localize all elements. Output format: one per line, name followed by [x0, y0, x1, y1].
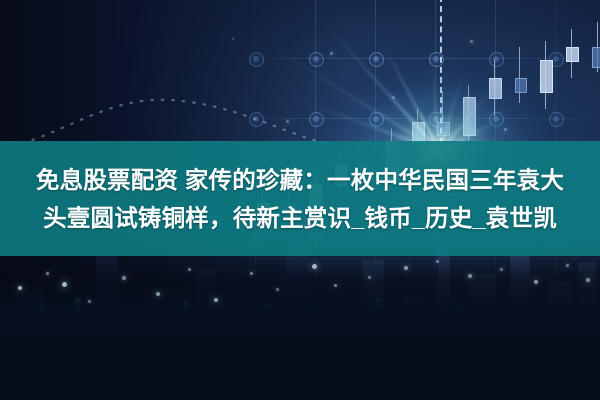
- light-speck: [586, 278, 590, 282]
- light-speck: [62, 282, 67, 287]
- light-speck: [250, 272, 253, 275]
- headline-line-2: 头壹圆试铸铜样，待新主赏识_钱币_历史_袁世凯: [43, 199, 557, 237]
- light-speck: [18, 286, 22, 290]
- promo-banner-image: 免息股票配资 家传的珍藏：一枚中华民国三年袁大 头壹圆试铸铜样，待新主赏识_钱币…: [0, 0, 600, 400]
- light-speck: [500, 268, 503, 271]
- light-speck: [470, 40, 473, 43]
- light-speck: [188, 268, 191, 271]
- light-speck: [276, 288, 279, 291]
- light-speck: [232, 38, 234, 40]
- light-speck: [534, 280, 538, 284]
- light-speck: [312, 264, 317, 269]
- light-speck: [122, 276, 126, 280]
- light-speck: [468, 274, 472, 278]
- light-speck: [88, 300, 91, 303]
- light-speck: [46, 272, 49, 275]
- light-speck: [156, 292, 160, 296]
- light-speck: [436, 260, 439, 263]
- light-speck: [330, 52, 333, 55]
- light-speck: [286, 120, 289, 123]
- light-speck: [540, 84, 543, 87]
- light-speck: [404, 266, 408, 270]
- headline-line-1: 免息股票配资 家传的珍藏：一枚中华民国三年袁大: [36, 161, 564, 199]
- headline-text: 免息股票配资 家传的珍藏：一枚中华民国三年袁大 头壹圆试铸铜样，待新主赏识_钱币…: [0, 141, 600, 256]
- light-speck: [214, 298, 218, 302]
- light-speck: [392, 96, 395, 99]
- light-speck: [368, 276, 371, 279]
- light-speck: [504, 128, 507, 131]
- light-speck: [334, 284, 337, 287]
- light-speck: [566, 264, 569, 267]
